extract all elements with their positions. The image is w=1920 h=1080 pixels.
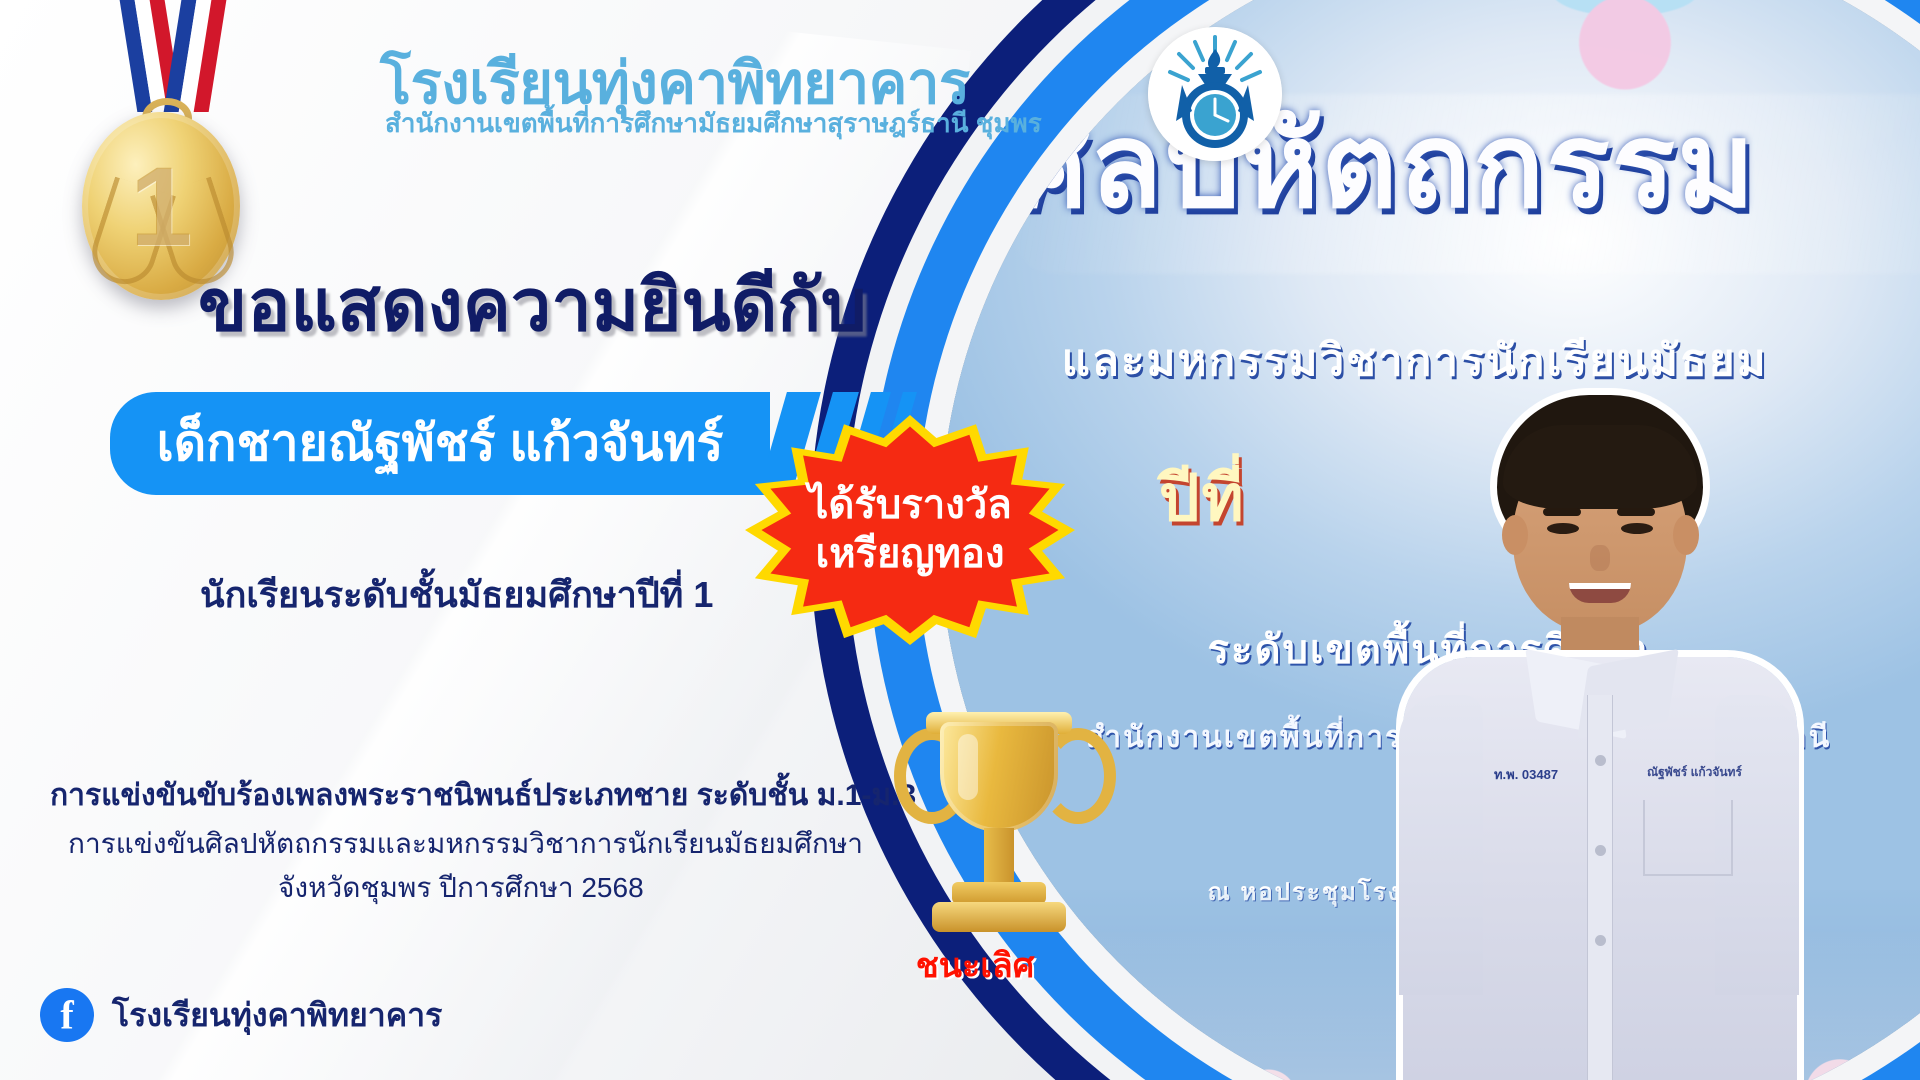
competition-line-1: การแข่งขันขับร้องเพลงพระราชนิพนธ์ประเภทช… bbox=[50, 772, 916, 819]
backdrop-word-2: และมหกรรมวิชาการนักเรียนมัธยม bbox=[1062, 325, 1768, 395]
student-shirt-badge: ท.พ. 03487 bbox=[1493, 767, 1559, 801]
trophy-stem bbox=[984, 828, 1014, 884]
student-eye-right bbox=[1621, 523, 1653, 534]
student-brow-left bbox=[1543, 508, 1581, 516]
facebook-footer[interactable]: โรงเรียนทุ่งคาพิทยาคาร bbox=[40, 988, 442, 1042]
student-shirt-pocket bbox=[1643, 800, 1733, 876]
backdrop-word-1: ศิลปหัตถกรรม bbox=[1013, 70, 1757, 258]
student-ear-left bbox=[1502, 515, 1528, 555]
student-eye-left bbox=[1547, 523, 1579, 534]
shirt-button-1 bbox=[1595, 755, 1606, 766]
trophy-caption: ชนะเลิศ bbox=[860, 938, 1090, 992]
school-subtitle: สำนักงานเขตพื้นที่การศึกษามัธยมศึกษาสุรา… bbox=[385, 103, 1042, 144]
facebook-page-name[interactable]: โรงเรียนทุ่งคาพิทยาคาร bbox=[112, 990, 442, 1041]
award-badge-line1: ได้รับรางวัล bbox=[808, 483, 1011, 528]
competition-line-3: จังหวัดชุมพร ปีการศึกษา 2568 bbox=[278, 866, 644, 910]
student-grade: นักเรียนระดับชั้นมัธยมศึกษาปีที่ 1 bbox=[200, 566, 713, 623]
student-photo: ท.พ. 03487 ณัฐพัชร์ แก้วจันทร์ bbox=[1385, 395, 1815, 1080]
shirt-button-2 bbox=[1595, 845, 1606, 856]
gold-trophy-icon: ชนะเลิศ bbox=[880, 700, 1110, 1000]
trophy-base-upper bbox=[952, 882, 1046, 904]
gold-medal-icon: 1 bbox=[58, 0, 258, 244]
congratulations-poster: ศิลปหัตถกรรม และมหกรรมวิชาการนักเรียนมัธ… bbox=[0, 0, 1920, 1080]
student-arm-left bbox=[1399, 695, 1483, 995]
page-title: ขอแสดงความยินดีกับ bbox=[198, 247, 867, 362]
school-emblem-icon bbox=[1148, 27, 1282, 161]
facebook-icon[interactable] bbox=[40, 988, 94, 1042]
award-badge: ได้รับรางวัล เหรียญทอง bbox=[745, 415, 1075, 645]
student-fringe bbox=[1503, 425, 1697, 509]
student-name-banner: เด็กชายณัฐพัชร์ แก้วจันทร์ bbox=[110, 392, 770, 495]
student-shirt-placket bbox=[1588, 695, 1612, 1080]
backdrop-word-3: ปีที่ bbox=[1159, 447, 1246, 549]
student-nose bbox=[1590, 545, 1610, 571]
competition-line-2: การแข่งขันศิลปหัตถกรรมและมหกรรมวิชาการนั… bbox=[68, 822, 863, 866]
award-badge-line2: เหรียญทอง bbox=[816, 532, 1005, 577]
student-ear-right bbox=[1673, 515, 1699, 555]
student-name-tag: ณัฐพัชร์ แก้วจันทร์ bbox=[1647, 763, 1742, 782]
trophy-base-lower bbox=[932, 902, 1066, 932]
medal-ribbon bbox=[120, 0, 206, 112]
student-brow-right bbox=[1617, 508, 1655, 516]
student-name: เด็กชายณัฐพัชร์ แก้วจันทร์ bbox=[157, 404, 724, 483]
trophy-shine bbox=[958, 734, 978, 800]
shirt-button-3 bbox=[1595, 935, 1606, 946]
